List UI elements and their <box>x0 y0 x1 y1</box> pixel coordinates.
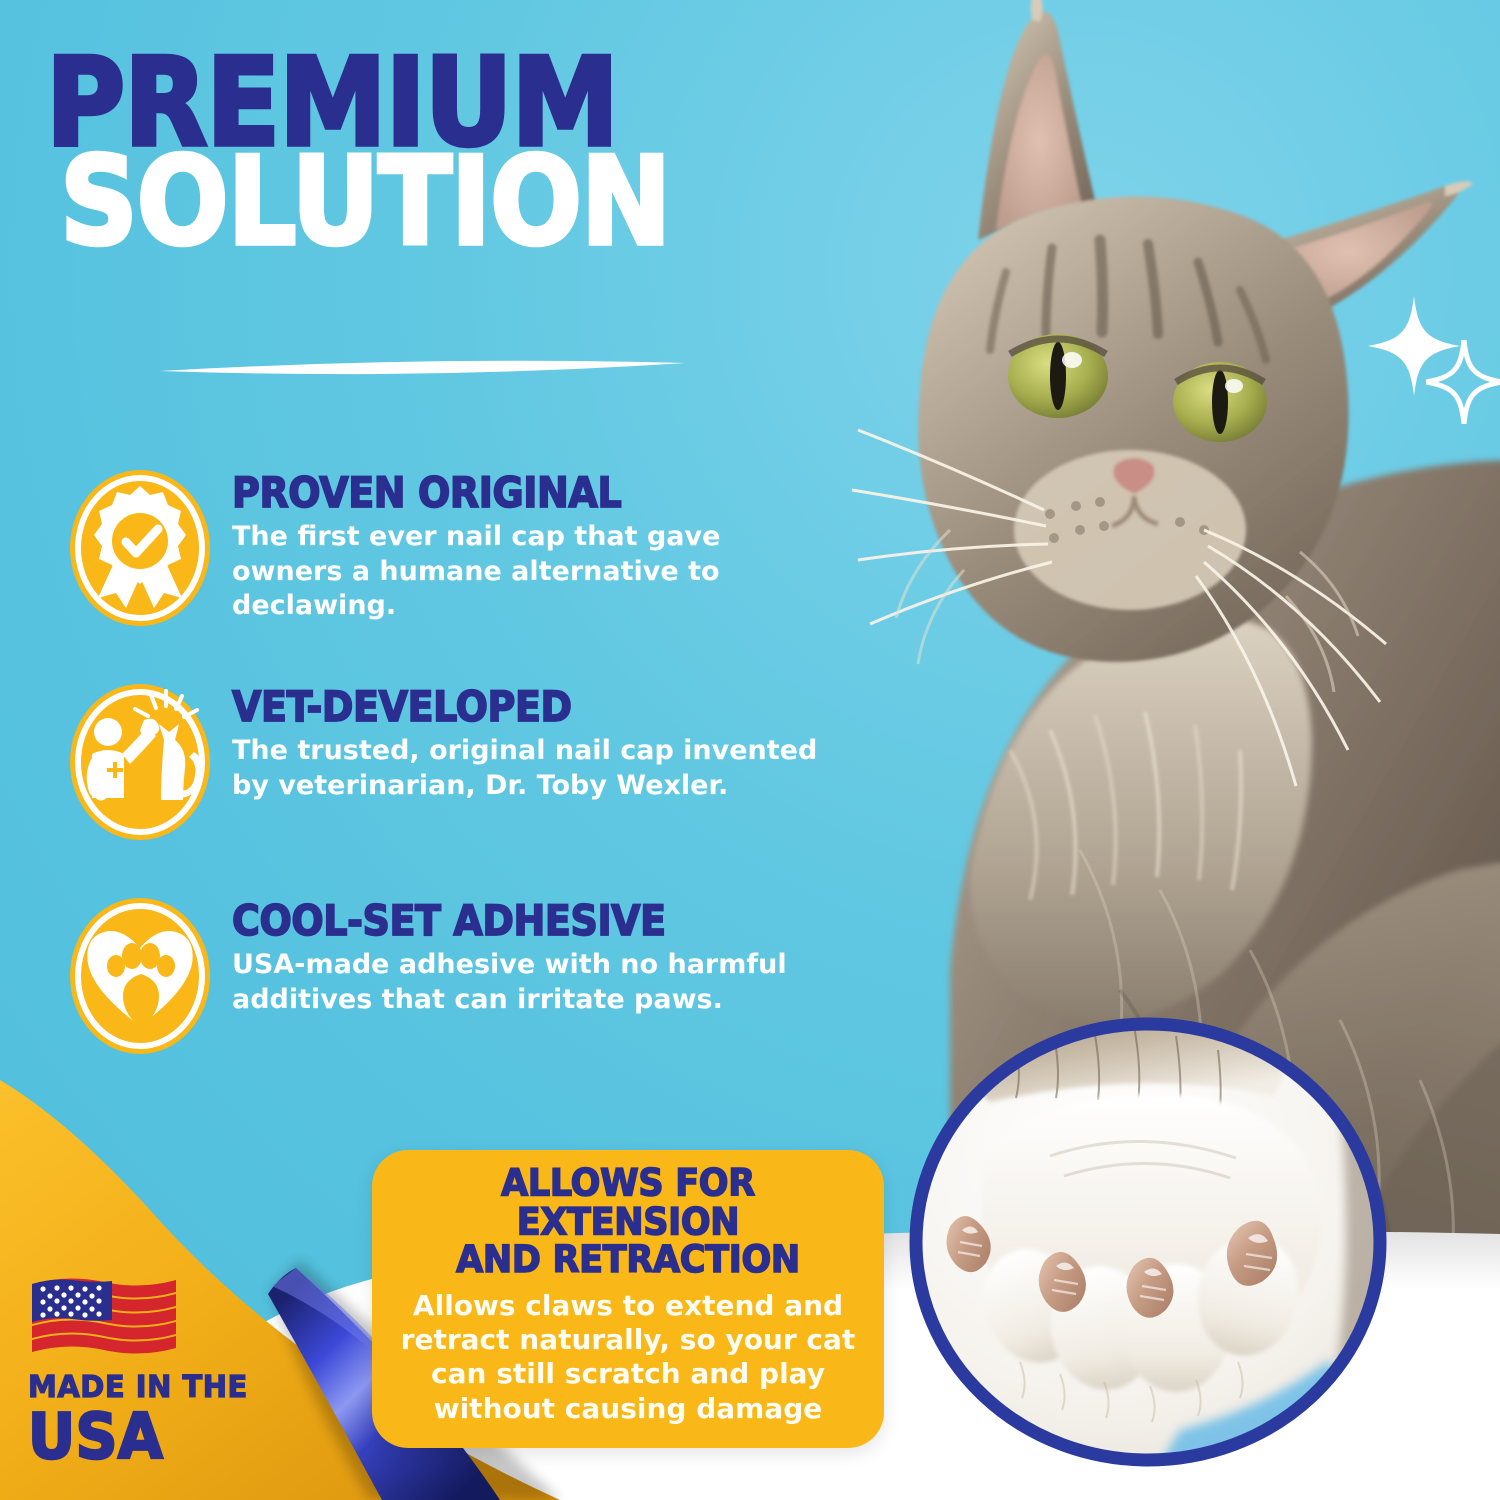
paw-inset-photo <box>900 1010 1410 1480</box>
feature-text: VET-DEVELOPED The trusted, original nail… <box>232 676 850 803</box>
product-feature-banner: PREMIUM SOLUTION PROVEN ORI <box>0 0 1500 1500</box>
feature-title: COOL-SET ADHESIVE <box>232 900 850 942</box>
feature-text: PROVEN ORIGINAL The first ever nail cap … <box>232 462 850 624</box>
title-solution: SOLUTION <box>60 147 870 258</box>
feature-body: The trusted, original nail cap invented … <box>232 734 832 803</box>
feature-title: PROVEN ORIGINAL <box>232 472 850 514</box>
callout-title-line1: ALLOWS FOR EXTENSION <box>396 1165 860 1242</box>
award-ribbon-check-icon <box>60 462 220 634</box>
lens-divider <box>160 358 685 380</box>
page-title: PREMIUM SOLUTION <box>46 48 856 247</box>
callout-body: Allows claws to extend and retract natur… <box>396 1289 860 1426</box>
feature-body: USA-made adhesive with no harmful additi… <box>232 948 832 1017</box>
extension-retraction-callout: ALLOWS FOR EXTENSION AND RETRACTION Allo… <box>372 1150 884 1448</box>
heart-paw-icon <box>60 890 220 1062</box>
feature-item: PROVEN ORIGINAL The first ever nail cap … <box>60 462 850 634</box>
made-in-usa-badge: MADE IN THE USA <box>28 1268 278 1463</box>
feature-item: VET-DEVELOPED The trusted, original nail… <box>60 676 850 848</box>
sparkle-outline-icon <box>1426 340 1500 424</box>
feature-body: The first ever nail cap that gave owners… <box>232 520 832 624</box>
feature-item: COOL-SET ADHESIVE USA-made adhesive with… <box>60 890 850 1062</box>
usa-flag-icon <box>28 1268 180 1360</box>
feature-list: PROVEN ORIGINAL The first ever nail cap … <box>60 462 850 1104</box>
veterinarian-high-five-cat-icon <box>60 676 220 848</box>
feature-text: COOL-SET ADHESIVE USA-made adhesive with… <box>232 890 850 1017</box>
callout-title-line2: AND RETRACTION <box>396 1242 860 1281</box>
usa-label: USA <box>28 1405 278 1468</box>
made-in-the-label: MADE IN THE <box>28 1372 278 1402</box>
feature-title: VET-DEVELOPED <box>232 686 850 728</box>
